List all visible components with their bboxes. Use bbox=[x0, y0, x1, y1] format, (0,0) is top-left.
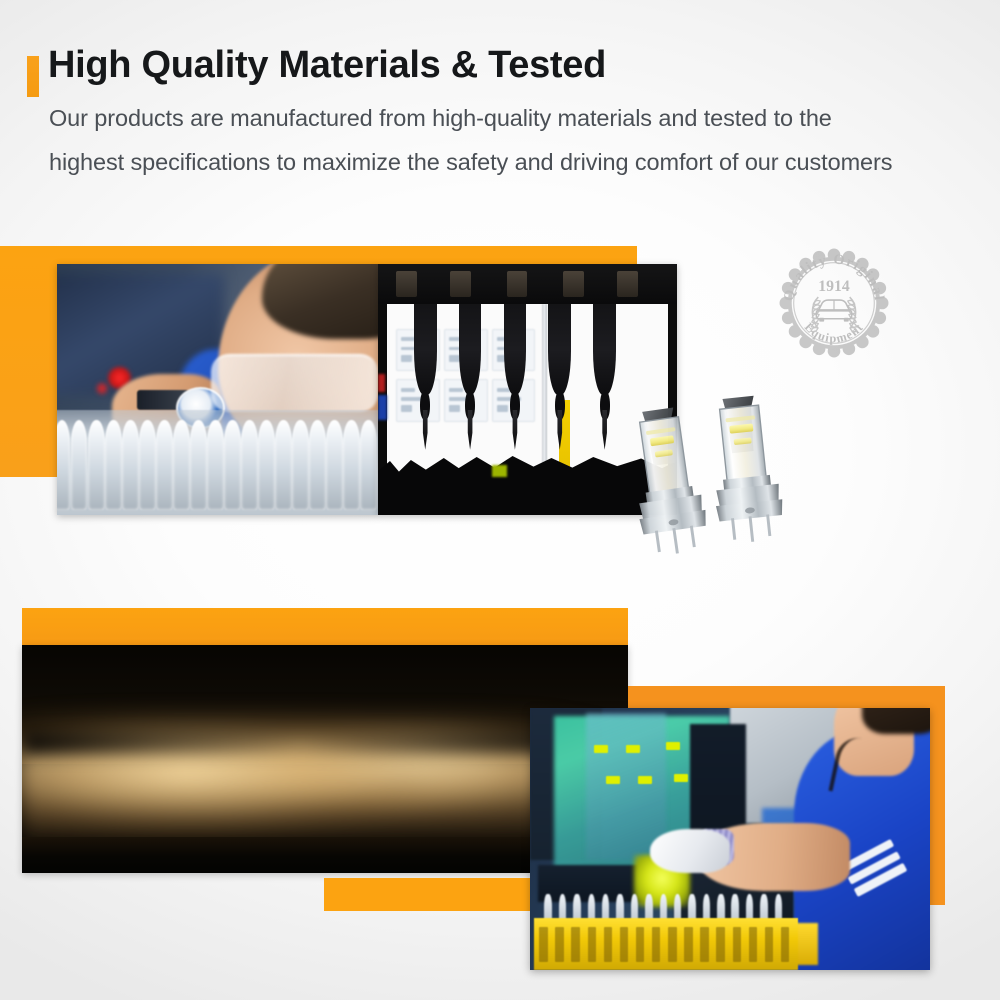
title-accent-bar bbox=[27, 56, 39, 97]
orange-accent-bar-lower bbox=[22, 608, 628, 646]
quality-original-equipment-seal: Quality Original Equipment 1914 bbox=[775, 243, 893, 363]
inspector-inspecting-bulbs-photo bbox=[57, 264, 378, 515]
page-title: High Quality Materials & Tested bbox=[48, 44, 606, 87]
subtitle-line-2: highest specifications to maximize the s… bbox=[49, 149, 892, 176]
header-section: High Quality Materials & Tested Our prod… bbox=[0, 0, 1000, 210]
car-silhouette-icon bbox=[816, 300, 851, 322]
infographic-canvas: High Quality Materials & Tested Our prod… bbox=[0, 0, 1000, 1000]
h7-halogen-bulbs-product bbox=[622, 385, 802, 565]
subtitle-line-1: Our products are manufactured from high-… bbox=[49, 105, 832, 132]
seal-year: 1914 bbox=[818, 278, 850, 295]
worker-quality-control-photo bbox=[530, 708, 930, 970]
